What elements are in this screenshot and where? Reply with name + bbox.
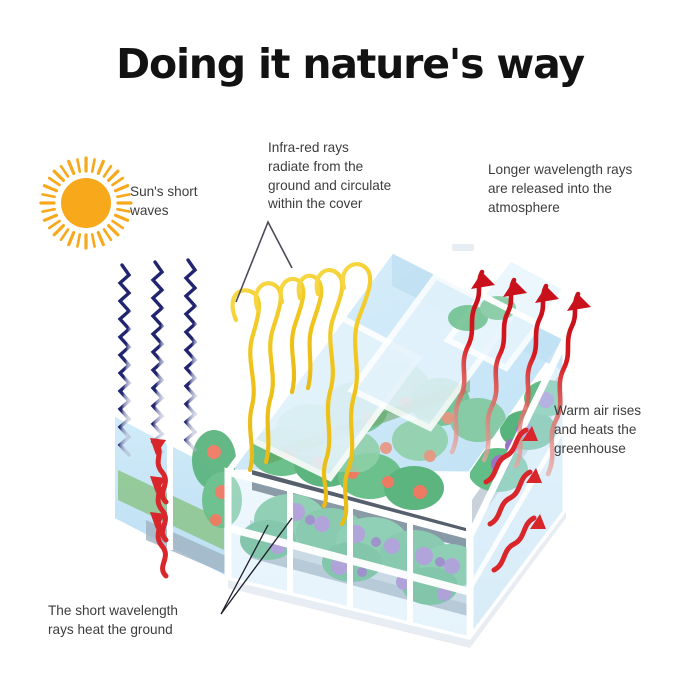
callout-infrared-rays: Infra-red rays radiate from the ground a…: [268, 139, 428, 214]
callout-short-wavelength-ground: The short wavelength rays heat the groun…: [48, 602, 248, 640]
greenhouse-diagram: [0, 0, 700, 700]
gable-end-left: [112, 412, 242, 580]
greenhouse-structure: [112, 244, 572, 648]
sun-icon: [41, 158, 131, 248]
callout-warm-air-rises: Warm air rises and heats the greenhouse: [554, 402, 694, 458]
infographic-canvas: Doing it nature's way: [0, 0, 700, 700]
callout-suns-short-waves: Sun's short waves: [130, 183, 240, 221]
callout-longer-wavelength-rays: Longer wavelength rays are released into…: [488, 161, 668, 217]
